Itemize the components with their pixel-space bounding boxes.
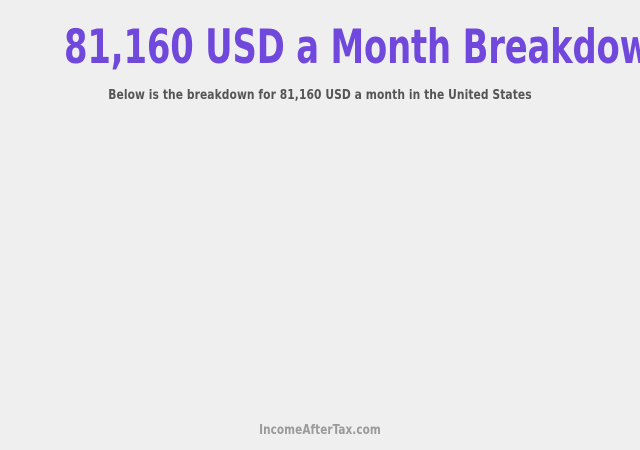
site-footer-attribution: IncomeAfterTax.com [45,422,595,438]
page-subtitle: Below is the breakdown for 81,160 USD a … [38,86,601,104]
page-title: 81,160 USD a Month Breakdown [64,22,576,74]
breakdown-page: 81,160 USD a Month Breakdown Below is th… [0,0,640,450]
breakdown-content-region [0,115,640,410]
